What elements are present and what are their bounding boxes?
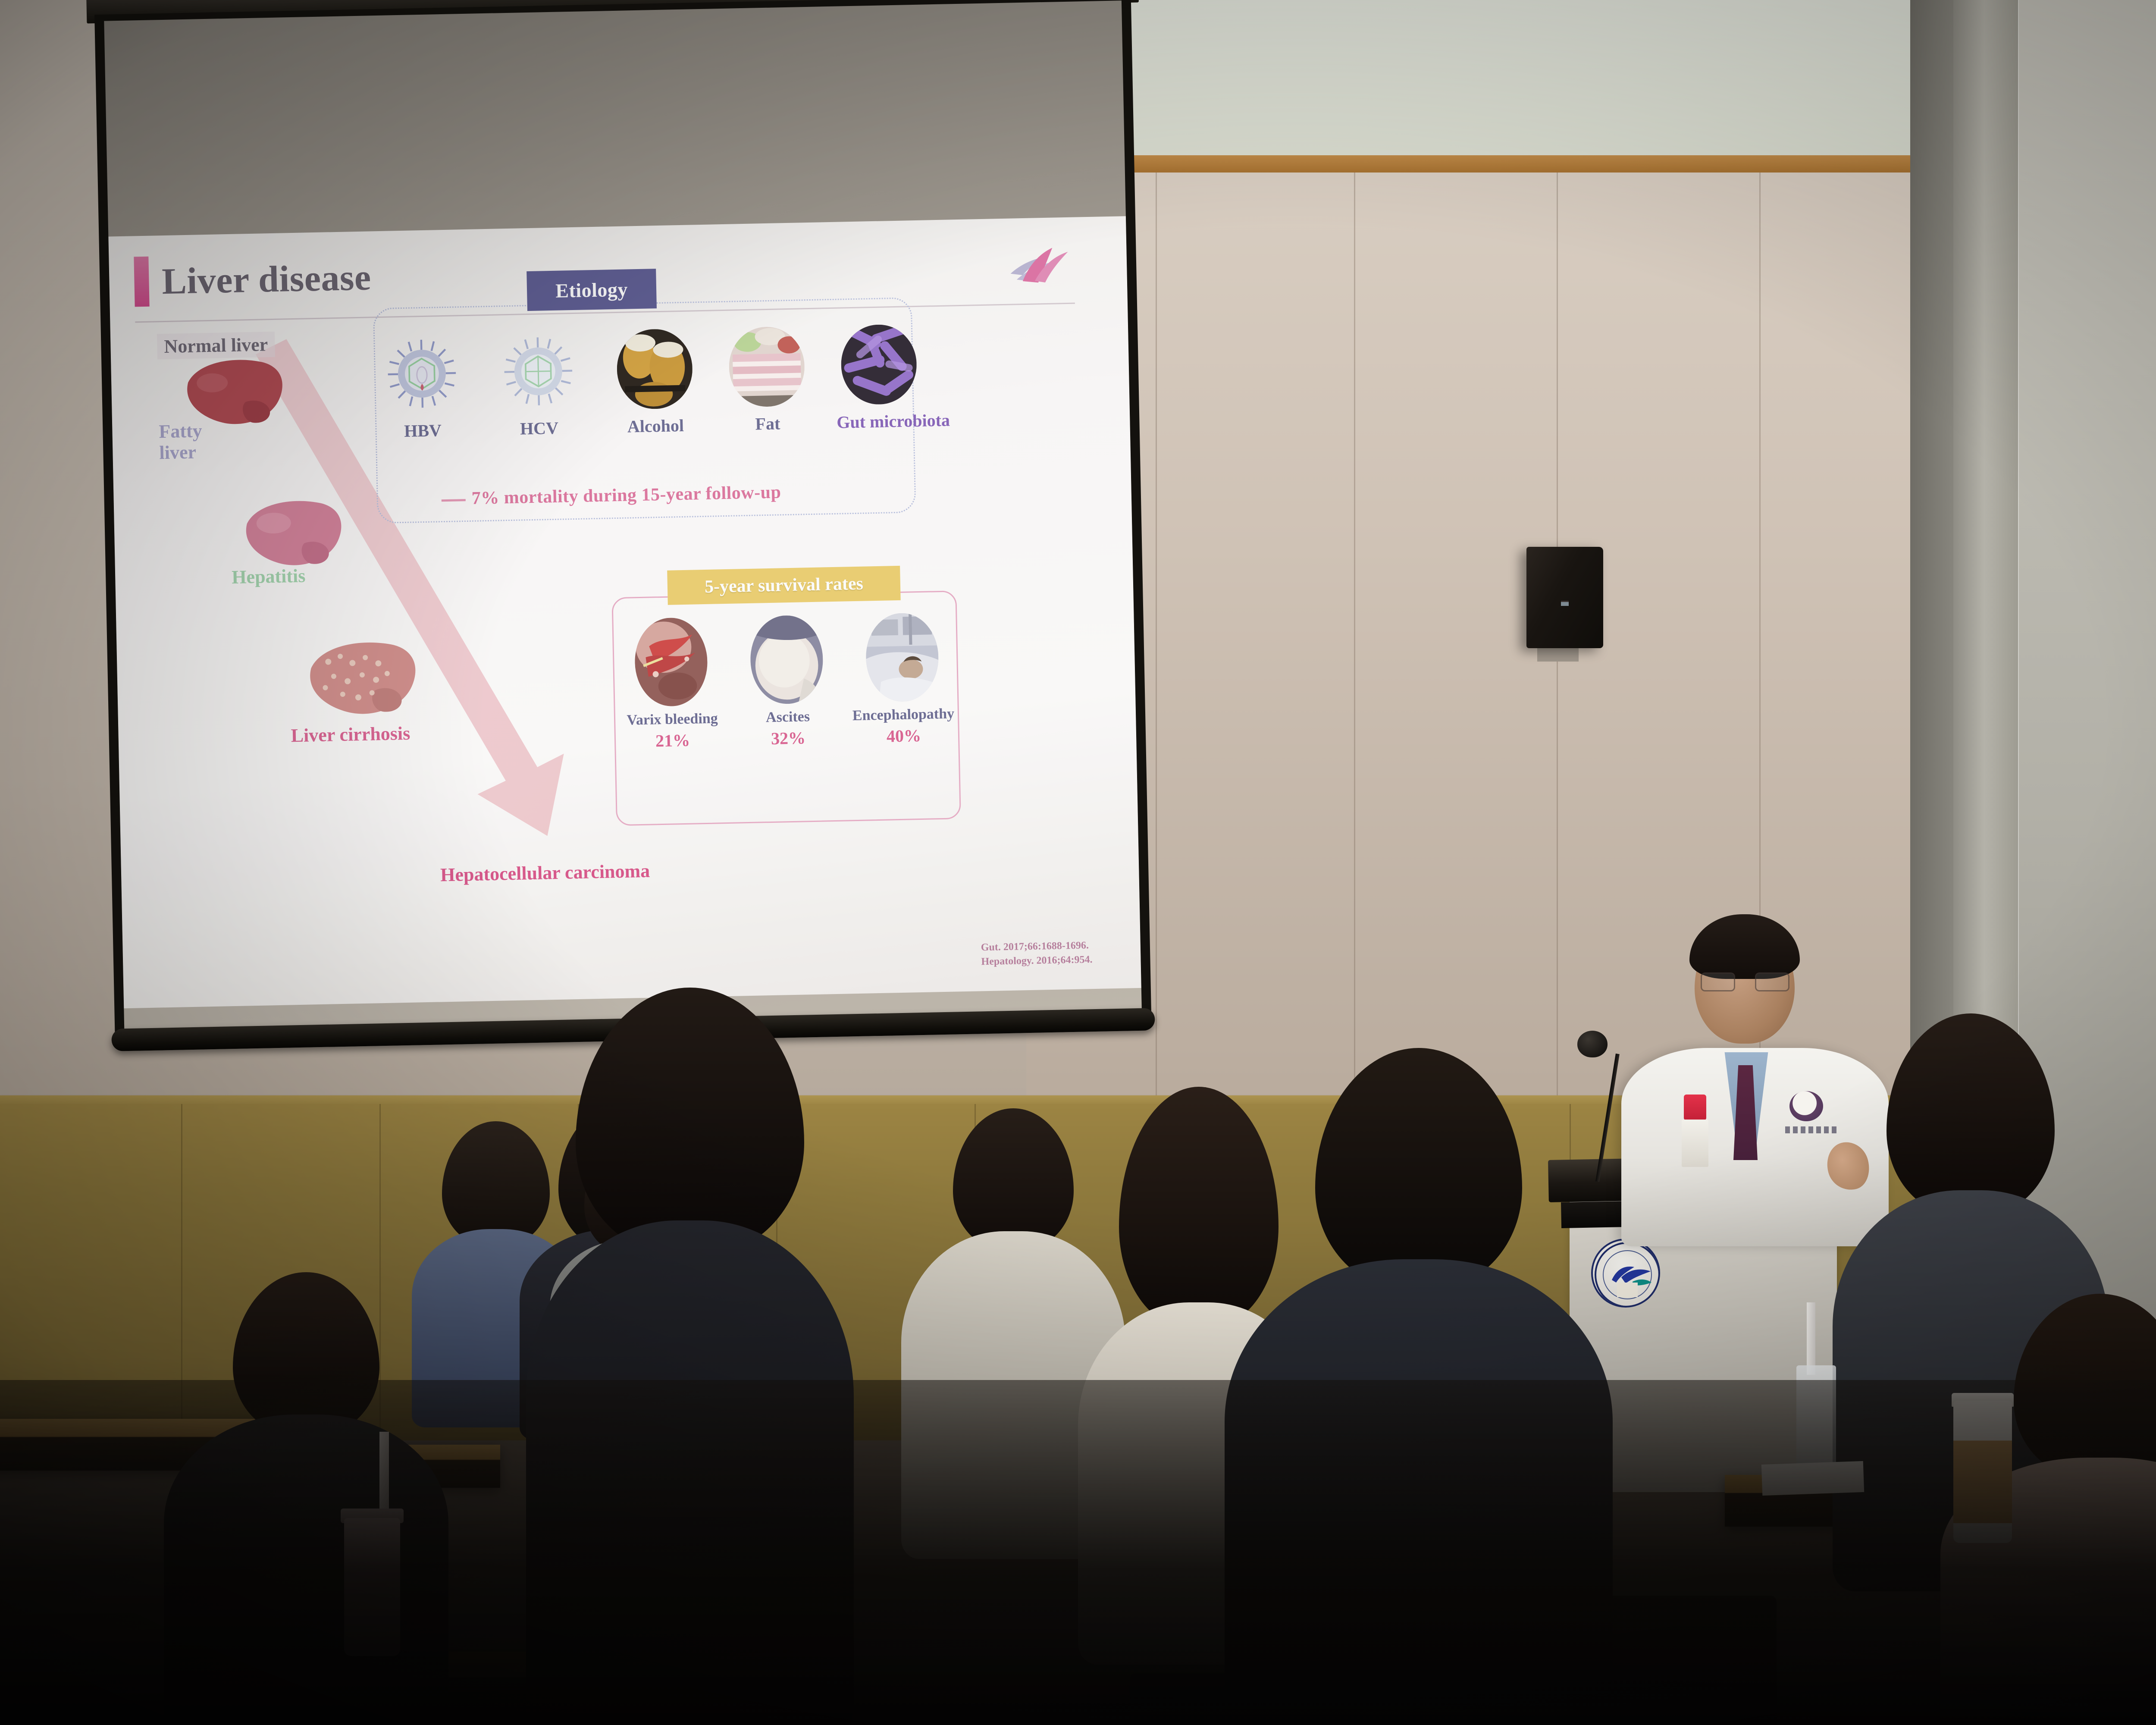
- cirrhotic-liver-illustration: [302, 631, 424, 724]
- label-liver-cirrhosis: Liver cirrhosis: [291, 722, 411, 747]
- survival-item-varix-bleeding: Varix bleeding 21%: [616, 617, 727, 752]
- label-fatty-line2: liver: [159, 442, 196, 464]
- etiology-label-alcohol: Alcohol: [612, 415, 699, 437]
- wall-speaker: [1526, 547, 1603, 648]
- speaker-bracket: [1537, 647, 1579, 662]
- presenter-id-card: [1682, 1120, 1708, 1167]
- hallym-university-seal: [1591, 1239, 1660, 1308]
- presenter-coat-nametag: [1785, 1126, 1837, 1133]
- label-hepatitis: Hepatitis: [232, 565, 306, 588]
- etiology-item-alcohol: Alcohol: [611, 328, 699, 437]
- survival-label-encephalopathy: Encephalopathy: [849, 706, 958, 724]
- citation-2: Hepatology. 2016;64:954.: [981, 953, 1093, 969]
- slide-title: Liver disease: [161, 255, 371, 303]
- glasses-icon: [1701, 972, 1789, 991]
- speaker-led-icon: [1561, 601, 1569, 606]
- slide-citations: Gut. 2017;66:1688-1696. Hepatology. 2016…: [981, 938, 1093, 969]
- wall-panels: [1026, 172, 2018, 1113]
- beer-photo: [616, 328, 693, 409]
- drink-straw: [1807, 1302, 1815, 1375]
- endoscopy-photo: [634, 617, 708, 707]
- abdomen-photo: [749, 615, 824, 705]
- etiology-item-gut-microbiota: Gut microbiota: [835, 324, 923, 433]
- microphone-icon[interactable]: [1577, 1031, 1608, 1057]
- survival-item-ascites: Ascites 32%: [732, 615, 842, 750]
- etiology-heading: Etiology: [526, 269, 657, 311]
- survival-heading: 5-year survival rates: [667, 566, 900, 605]
- fatty-liver-illustration: [238, 491, 348, 575]
- survival-item-encephalopathy: Encephalopathy 40%: [847, 612, 958, 747]
- screen-surface: Liver disease: [104, 0, 1141, 1030]
- survival-label-ascites: Ascites: [734, 708, 842, 727]
- title-accent-bar: [134, 257, 149, 307]
- survival-percent-ascites: 32%: [734, 727, 843, 750]
- etiology-label-hcv: HCV: [496, 417, 583, 439]
- label-fatty-line1: Fatty: [159, 420, 202, 442]
- citation-1: Gut. 2017;66:1688-1696.: [981, 938, 1093, 955]
- survival-percent-varix-bleeding: 21%: [619, 729, 727, 752]
- etiology-items: HBV: [378, 323, 942, 524]
- etiology-item-hcv: HCV: [494, 331, 583, 439]
- virus-icon: [500, 331, 577, 412]
- bacteria-photo: [840, 324, 917, 405]
- etiology-item-fat: Fat: [723, 326, 811, 435]
- etiology-label-hbv: HBV: [379, 420, 466, 442]
- hospital-crest-logo: [1789, 1091, 1823, 1121]
- survival-items: Varix bleeding 21%: [616, 612, 961, 822]
- hallym-wing-logo: [997, 238, 1080, 292]
- virus-icon: [383, 333, 461, 414]
- label-fatty-liver: Fatty liver: [159, 420, 203, 464]
- etiology-label-gut-microbiota: Gut microbiota: [837, 411, 923, 433]
- presenter-id-badge: [1684, 1095, 1706, 1120]
- pork-belly-photo: [728, 326, 805, 407]
- label-hepatocellular-carcinoma: Hepatocellular carcinoma: [440, 860, 650, 886]
- etiology-label-fat: Fat: [724, 413, 811, 435]
- label-normal-liver: Normal liver: [157, 332, 275, 359]
- patient-bed-photo: [865, 612, 939, 702]
- presentation-slide: Liver disease: [108, 216, 1141, 1008]
- wall-trim-band: [1026, 155, 2018, 173]
- survival-label-varix-bleeding: Varix bleeding: [618, 710, 727, 729]
- survival-percent-encephalopathy: 40%: [850, 724, 958, 747]
- etiology-item-hbv: HBV: [378, 333, 466, 442]
- projection-screen: Liver disease: [103, 0, 1142, 1062]
- lecture-hall-photo: Liver disease: [0, 0, 2156, 1725]
- foreground-shadow: [0, 1380, 2156, 1725]
